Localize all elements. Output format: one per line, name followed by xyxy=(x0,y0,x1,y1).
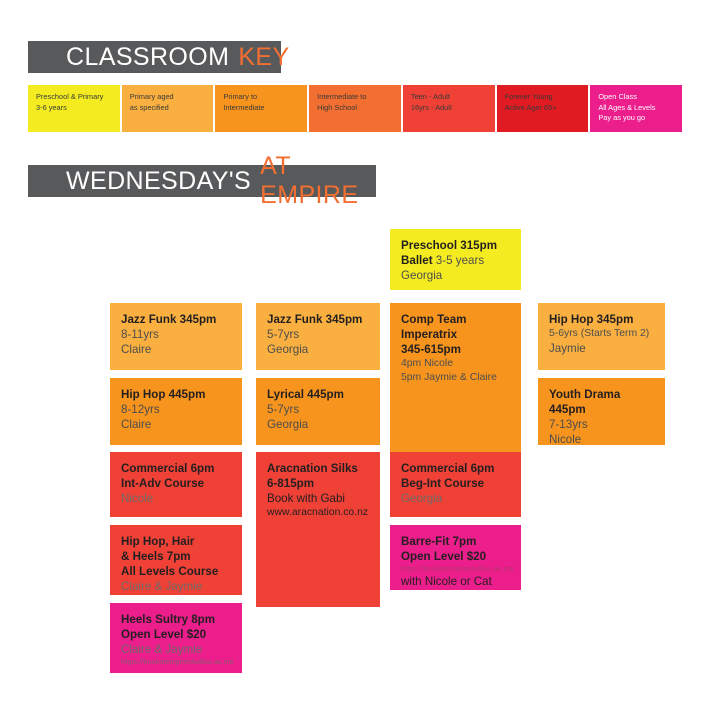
class-block-aracnation-silks[interactable]: Aracnation Silks6-815pmBook with Gabiwww… xyxy=(256,452,380,607)
class-line: 8-11yrs xyxy=(121,327,232,342)
class-block-jazz-funk-345-s2[interactable]: Jazz Funk 345pm5-7yrsGeorgia xyxy=(256,303,380,370)
class-block-heels-sultry-8pm[interactable]: Heels Sultry 8pmOpen Level $20Claire & J… xyxy=(110,603,242,673)
class-line: Commercial 6pm xyxy=(401,461,511,476)
class-line: 4pm Nicole xyxy=(401,357,511,371)
class-line: Open Level $20 xyxy=(121,627,232,642)
class-line: Claire & Jaymie xyxy=(121,642,232,657)
class-block-lyrical-445-s2[interactable]: Lyrical 445pm5-7yrsGeorgia xyxy=(256,378,380,445)
class-line: Claire xyxy=(121,342,232,357)
class-line: 7-13yrs xyxy=(549,417,655,432)
timetable-grid: Preschool 315pmBallet 3-5 yearsGeorgiaJa… xyxy=(0,197,710,710)
key-swatch-line: Primary aged xyxy=(130,92,206,103)
class-line: Preschool 315pm xyxy=(401,238,511,253)
key-swatch-line: 3-6 years xyxy=(36,103,112,114)
class-line: Beg-Int Course xyxy=(401,476,511,491)
key-swatch-3: Intermediate toHigh School xyxy=(309,85,401,132)
key-swatch-line: Open Class xyxy=(598,92,674,103)
class-line: 345-615pm xyxy=(401,342,511,357)
class-block-hip-hop-hair-heels-7pm[interactable]: Hip Hop, Hair& Heels 7pmAll Levels Cours… xyxy=(110,525,242,595)
class-line: Lyrical 445pm xyxy=(267,387,370,402)
class-block-jazz-funk-345-s1[interactable]: Jazz Funk 345pm8-11yrsClaire xyxy=(110,303,242,370)
key-swatch-line: High School xyxy=(317,103,393,114)
key-swatch-line: as specified xyxy=(130,103,206,114)
class-line: Commercial 6pm xyxy=(121,461,232,476)
class-line: Ballet 3-5 years xyxy=(401,253,511,268)
key-swatch-line: Intermediate xyxy=(223,103,299,114)
key-swatch-6: Open ClassAll Ages & LevelsPay as you go xyxy=(590,85,682,132)
key-swatch-2: Primary toIntermediate xyxy=(215,85,307,132)
class-line: 6-815pm xyxy=(267,476,370,491)
class-line: Aracnation Silks xyxy=(267,461,370,476)
class-line: Nicole xyxy=(121,491,232,506)
class-line: Youth Drama 445pm xyxy=(549,387,655,417)
class-block-hip-hop-445-s1[interactable]: Hip Hop 445pm8-12yrsClaire xyxy=(110,378,242,445)
class-line: Georgia xyxy=(267,417,370,432)
class-line: Jaymie xyxy=(549,341,655,356)
class-line: Georgia xyxy=(401,491,511,506)
class-line-segment: 3-5 years xyxy=(433,254,485,267)
class-line: Claire xyxy=(121,417,232,432)
key-swatch-0: Preschool & Primary3-6 years xyxy=(28,85,120,132)
key-swatch-line: 16yrs - Adult xyxy=(411,103,487,114)
class-block-preschool-ballet[interactable]: Preschool 315pmBallet 3-5 yearsGeorgia xyxy=(390,229,521,290)
key-swatch-line: Primary to xyxy=(223,92,299,103)
key-swatch-4: Teen - Adult16yrs - Adult xyxy=(403,85,495,132)
class-line: Georgia xyxy=(267,342,370,357)
class-line: 5-7yrs xyxy=(267,402,370,417)
classroom-key-title: CLASSROOM xyxy=(66,43,229,72)
class-line: Jazz Funk 345pm xyxy=(267,312,370,327)
class-block-commercial-6pm-beg-int[interactable]: Commercial 6pmBeg-Int CourseGeorgia xyxy=(390,452,521,517)
class-line: Hip Hop 345pm xyxy=(549,312,655,327)
class-block-commercial-6pm-int-adv[interactable]: Commercial 6pmInt-Adv CourseNicole xyxy=(110,452,242,517)
key-swatch-line: Intermediate to xyxy=(317,92,393,103)
class-line: Imperatrix xyxy=(401,327,511,342)
class-block-hip-hop-345-s4[interactable]: Hip Hop 345pm5-6yrs (Starts Term 2)Jaymi… xyxy=(538,303,665,370)
class-line: www.aracnation.co.nz xyxy=(267,506,370,520)
classroom-key-title-accent: KEY xyxy=(238,43,289,72)
key-swatch-line: Active Ager 65+ xyxy=(505,103,581,114)
class-line: Claire & Jaymie xyxy=(121,579,232,594)
class-line: Int-Adv Course xyxy=(121,476,232,491)
class-block-barre-fit-7pm[interactable]: Barre-Fit 7pmOpen Level $20https://booka… xyxy=(390,525,521,590)
class-block-comp-team-imperatrix[interactable]: Comp TeamImperatrix345-615pm4pm Nicole5p… xyxy=(390,303,521,452)
class-block-youth-drama-445-s4[interactable]: Youth Drama 445pm7-13yrsNicole xyxy=(538,378,665,445)
class-line: & Heels 7pm xyxy=(121,549,232,564)
class-line-segment: Ballet xyxy=(401,254,433,267)
classroom-key-legend: Preschool & Primary3-6 yearsPrimary aged… xyxy=(28,85,682,132)
class-line: with Nicole or Cat xyxy=(401,574,511,589)
class-line: 5-6yrs (Starts Term 2) xyxy=(549,327,655,341)
key-swatch-1: Primary agedas specified xyxy=(122,85,214,132)
key-swatch-line: All Ages & Levels xyxy=(598,103,674,114)
class-line: Open Level $20 xyxy=(401,549,511,564)
class-line: Barre-Fit 7pm xyxy=(401,534,511,549)
key-swatch-line: Forever Young xyxy=(505,92,581,103)
class-line: Jazz Funk 345pm xyxy=(121,312,232,327)
key-swatch-line: Teen - Adult xyxy=(411,92,487,103)
class-line: https://bookatempirestudios.as.me xyxy=(121,657,232,667)
class-line: 8-12yrs xyxy=(121,402,232,417)
timetable-page: CLASSROOM KEY Preschool & Primary3-6 yea… xyxy=(0,0,710,710)
class-line: 5pm Jaymie & Claire xyxy=(401,371,511,385)
class-line: All Levels Course xyxy=(121,564,232,579)
wednesday-header: WEDNESDAY'S AT EMPIRE xyxy=(28,165,376,197)
key-swatch-line: Pay as you go xyxy=(598,113,674,124)
key-swatch-line: Preschool & Primary xyxy=(36,92,112,103)
class-line: https://bookatempirestudios.as.me xyxy=(401,564,511,574)
class-line: Comp Team xyxy=(401,312,511,327)
class-line: Heels Sultry 8pm xyxy=(121,612,232,627)
class-line: Hip Hop, Hair xyxy=(121,534,232,549)
key-swatch-5: Forever YoungActive Ager 65+ xyxy=(497,85,589,132)
class-line: Nicole xyxy=(549,432,655,445)
class-line: 5-7yrs xyxy=(267,327,370,342)
class-line: Georgia xyxy=(401,268,511,283)
classroom-key-header: CLASSROOM KEY xyxy=(28,41,281,73)
wednesday-title: WEDNESDAY'S xyxy=(66,167,251,196)
class-line: Hip Hop 445pm xyxy=(121,387,232,402)
class-line: Book with Gabi xyxy=(267,491,370,506)
